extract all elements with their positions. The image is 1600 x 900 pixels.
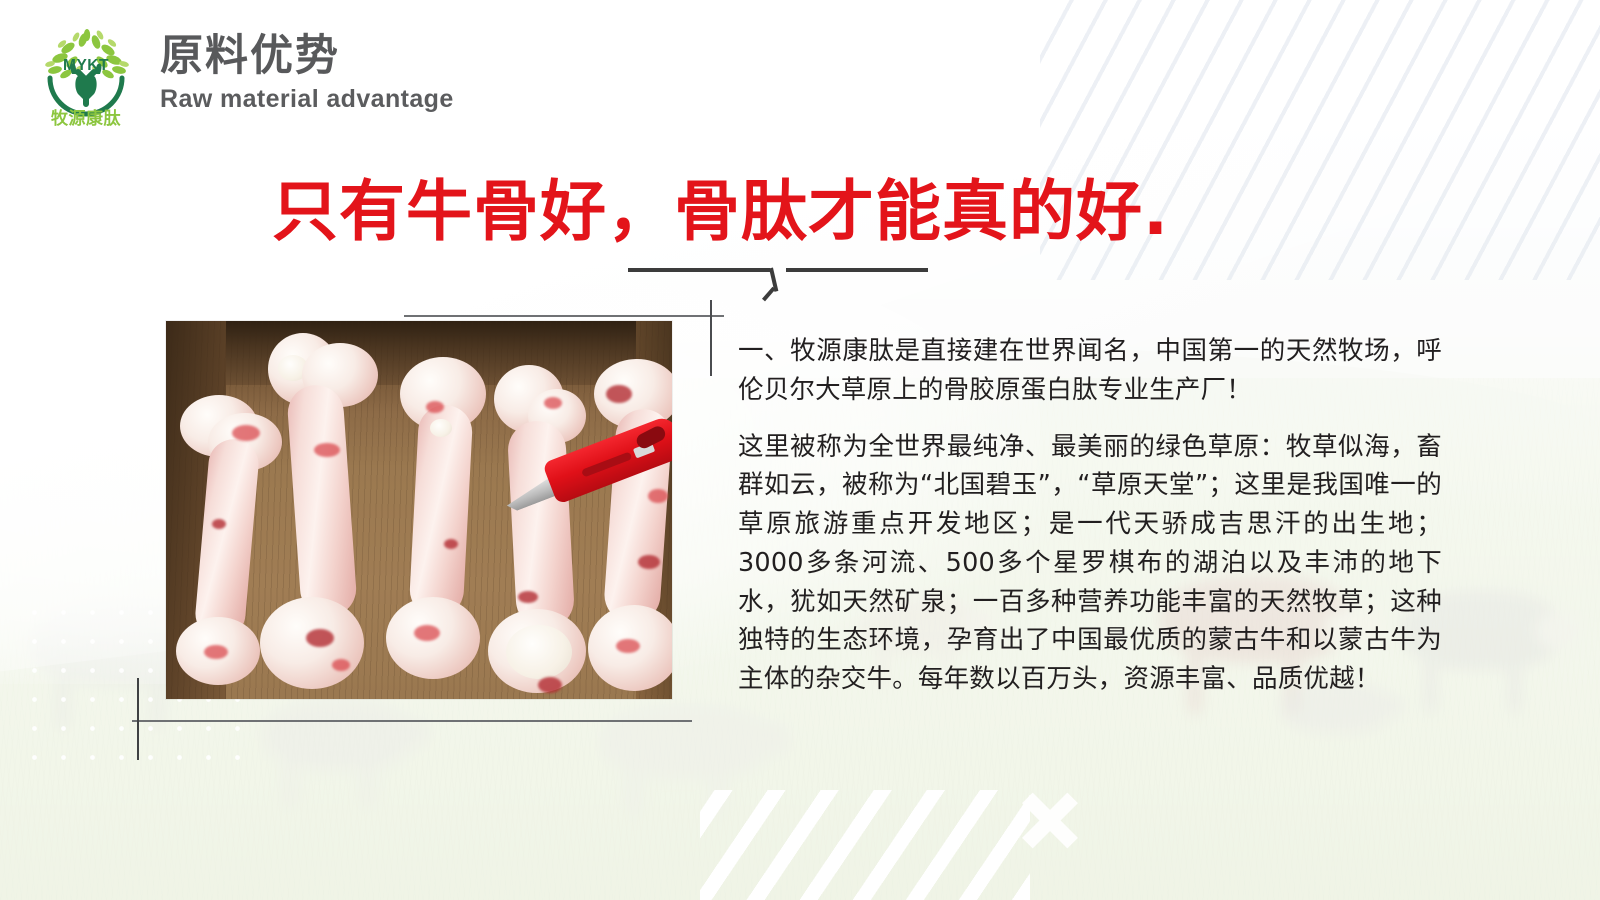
x-mark-icon xyxy=(645,22,733,110)
beef-bone xyxy=(266,329,394,697)
page-subtitle: Raw material advantage xyxy=(160,85,454,114)
cross-mark-top xyxy=(710,300,712,376)
rule-bottom xyxy=(132,720,692,722)
headline: 只有牛骨好，骨肽才能真的好. xyxy=(272,176,1169,249)
svg-text:MYKT: MYKT xyxy=(63,57,109,74)
x-mark-icon xyxy=(1018,788,1082,852)
paragraph-2: 这里被称为全世界最纯净、最美丽的绿色草原：牧草似海，畜群如云，被称为“北国碧玉”… xyxy=(738,428,1442,699)
svg-text:牧源康肽: 牧源康肽 xyxy=(51,108,121,129)
beef-bone xyxy=(580,359,672,695)
paragraph-1: 一、牧源康肽是直接建在世界闻名，中国第一的天然牧场，呼伦贝尔大草原上的骨胶原蛋白… xyxy=(738,332,1442,410)
slide-header: MYKT 牧源康肽 原料优势 Raw material advantage xyxy=(38,18,454,130)
header-text-block: 原料优势 Raw material advantage xyxy=(160,34,454,114)
body-copy: 一、牧源康肽是直接建在世界闻名，中国第一的天然牧场，呼伦贝尔大草原上的骨胶原蛋白… xyxy=(738,332,1442,699)
slide-root: MYKT 牧源康肽 原料优势 Raw material advantage 只有… xyxy=(0,0,1600,900)
diagonal-stripes-decor xyxy=(700,790,1030,900)
rule-top xyxy=(404,315,724,317)
mykt-tree-logo: MYKT 牧源康肽 xyxy=(38,18,134,130)
cross-mark-bottom xyxy=(137,678,139,760)
bone-photo xyxy=(166,321,672,699)
headline-underline-decor xyxy=(628,268,928,290)
page-title: 原料优势 xyxy=(160,34,454,79)
